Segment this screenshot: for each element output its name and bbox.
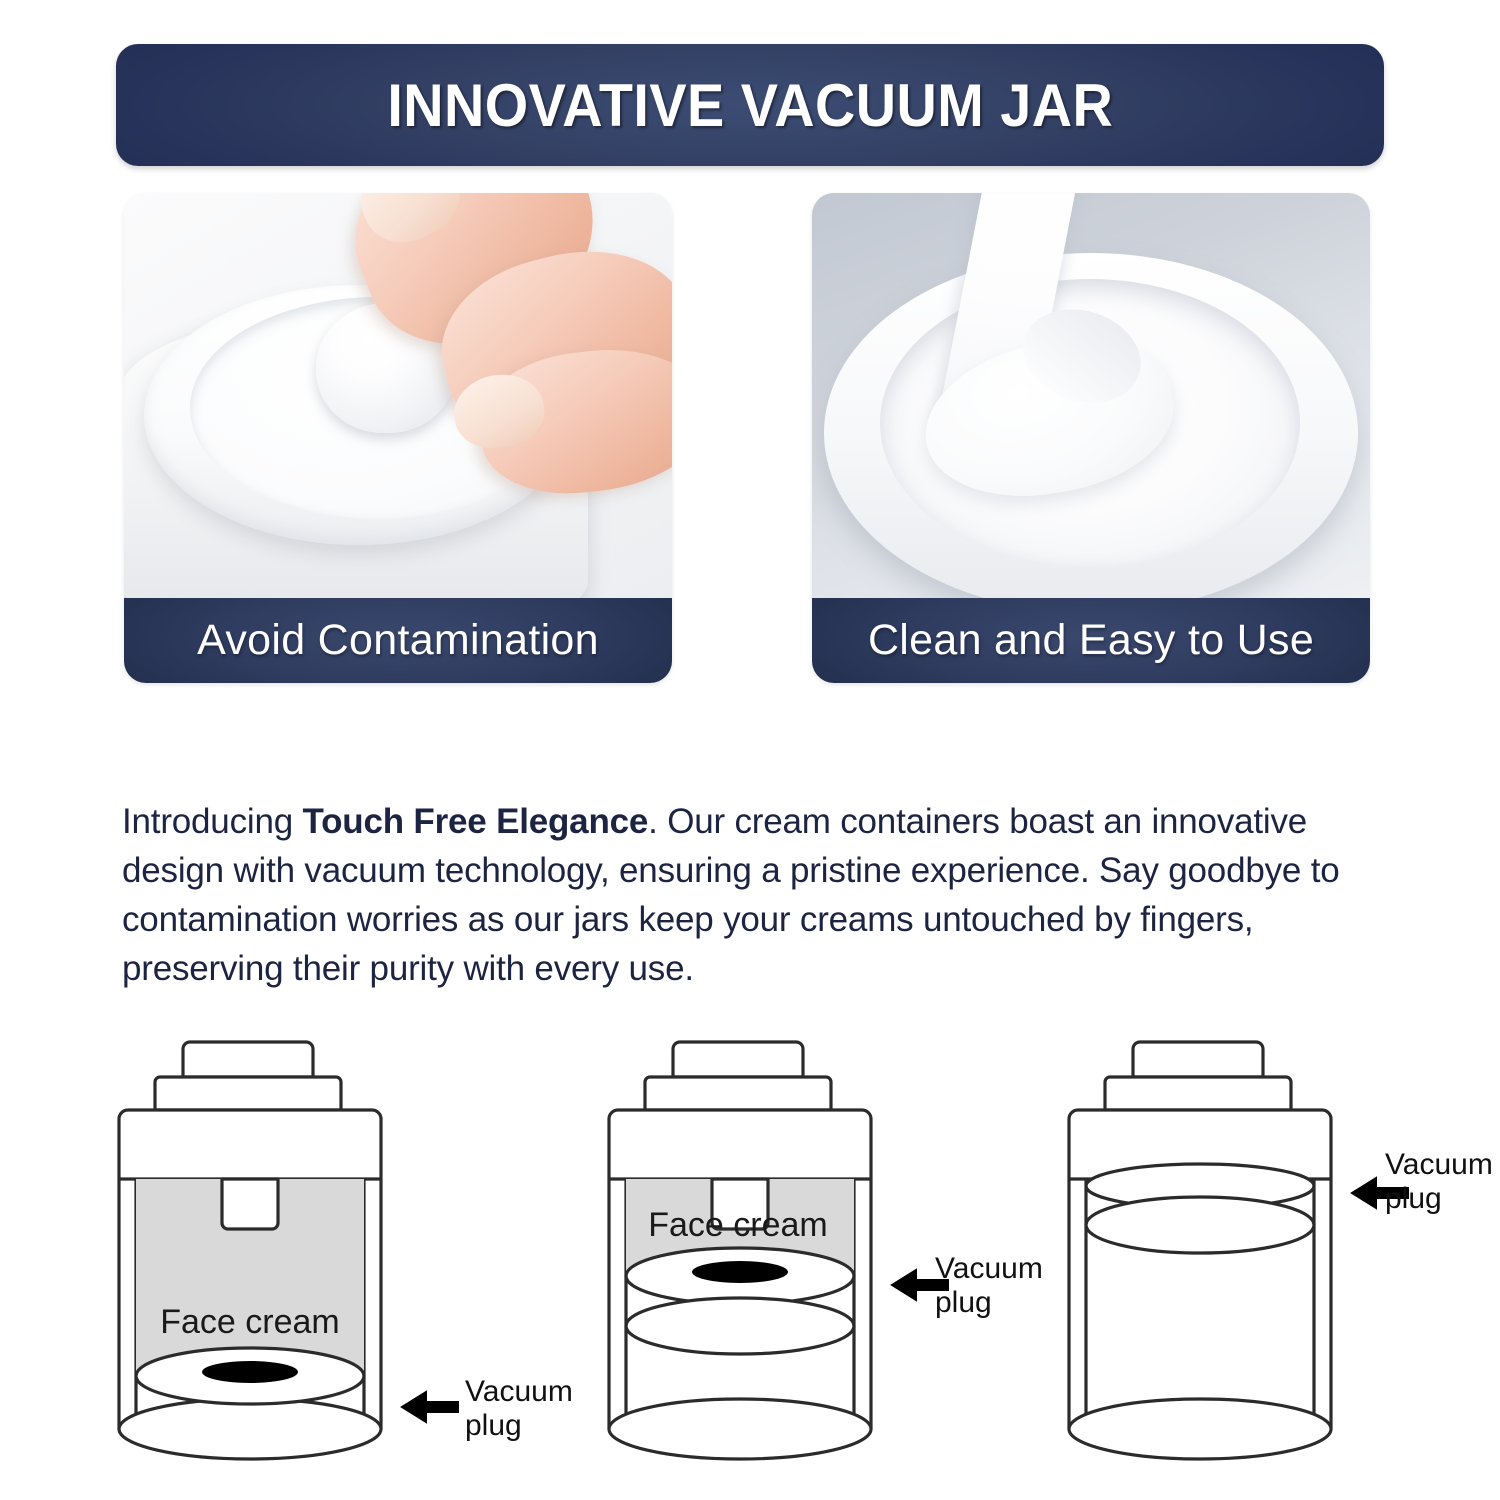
diagram-full-jar: Vacuum plug Face cream — [90, 1020, 530, 1490]
jar-base-ellipse — [119, 1399, 381, 1459]
face-cream-label: Face cream — [150, 1303, 350, 1342]
vacuum-plug-hole — [202, 1361, 298, 1383]
feature-panel-clean-easy: Clean and Easy to Use — [812, 193, 1370, 683]
jar-lid — [119, 1110, 381, 1179]
panel-caption-label: Clean and Easy to Use — [868, 616, 1314, 665]
empty-jar-illustration — [1040, 1020, 1480, 1490]
panel-caption-label: Avoid Contamination — [197, 616, 599, 665]
vacuum-plug-label: Vacuum plug — [465, 1375, 573, 1443]
description-lead: Introducing — [122, 802, 303, 841]
jar-base-ellipse — [1069, 1399, 1331, 1459]
dip-tube-nub — [222, 1179, 278, 1229]
full-jar-illustration — [90, 1020, 530, 1490]
feature-panel-avoid-contamination: Avoid Contamination — [124, 193, 672, 683]
diagram-empty-jar: Vacuum plug — [1040, 1020, 1480, 1490]
jar-base-ellipse — [609, 1399, 871, 1459]
jar-knob — [1133, 1042, 1263, 1077]
photo-finger-on-jar-lid — [124, 193, 672, 598]
vacuum-jar-diagram-row: Vacuum plug Face cream — [60, 1020, 1460, 1490]
diagram-half-used-jar: Vacuum plug Face cream — [580, 1020, 1020, 1490]
panel-caption-bar: Avoid Contamination — [124, 598, 672, 683]
jar-collar — [155, 1077, 341, 1110]
jar-knob — [673, 1042, 803, 1077]
vacuum-plug-hole — [692, 1261, 788, 1283]
vacuum-plug-label: Vacuum plug — [1385, 1148, 1493, 1216]
vacuum-plug-skirt — [626, 1298, 854, 1354]
page-title: INNOVATIVE VACUUM JAR — [387, 71, 1113, 140]
jar-knob — [183, 1042, 313, 1077]
jar-collar — [645, 1077, 831, 1110]
photo-cream-swirl-in-jar — [812, 193, 1370, 598]
product-description: Introducing Touch Free Elegance. Our cre… — [122, 797, 1412, 993]
header-banner: INNOVATIVE VACUUM JAR — [116, 44, 1384, 166]
description-emphasis: Touch Free Elegance — [303, 802, 649, 841]
jar-lid — [609, 1110, 871, 1179]
plug-arrow — [402, 1392, 458, 1422]
face-cream-label: Face cream — [638, 1206, 838, 1245]
panel-caption-bar: Clean and Easy to Use — [812, 598, 1370, 683]
jar-collar — [1105, 1077, 1291, 1110]
vacuum-plug-label: Vacuum plug — [935, 1252, 1043, 1320]
vacuum-plug-skirt — [1086, 1197, 1314, 1253]
